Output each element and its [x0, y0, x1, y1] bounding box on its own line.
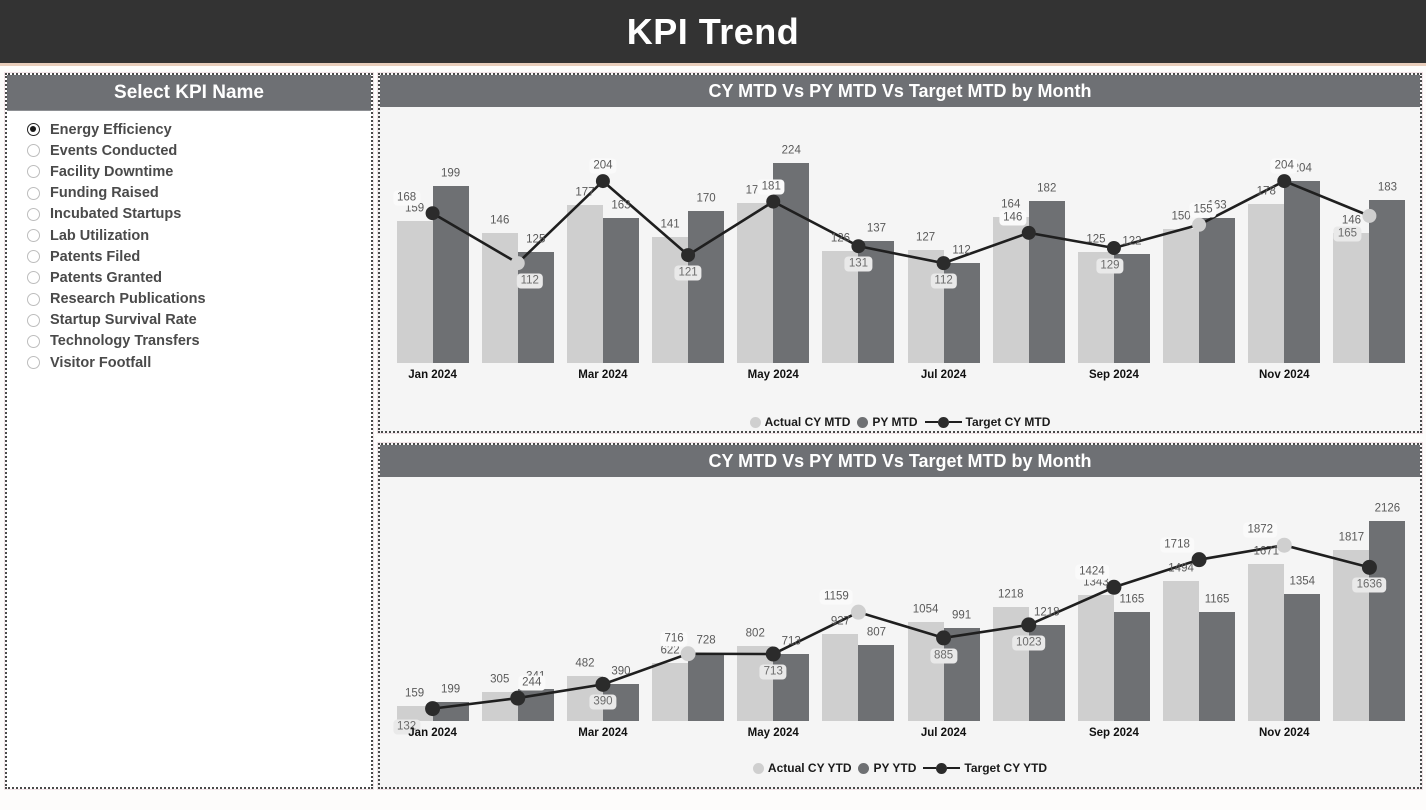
x-axis-tick-label: Nov 2024 — [1259, 727, 1310, 739]
data-label-py: 199 — [437, 166, 464, 181]
dashboard-root: KPI Trend Select KPI Name Energy Efficie… — [0, 0, 1426, 810]
radio-selected-icon[interactable] — [27, 123, 40, 136]
data-label-py: 112 — [948, 244, 974, 259]
x-axis-tick-label: Sep 2024 — [1089, 369, 1139, 381]
target-point[interactable] — [766, 195, 780, 209]
radio-unselected-icon[interactable] — [27, 356, 40, 369]
x-axis-tick-label: Jul 2024 — [921, 369, 966, 381]
target-point[interactable] — [510, 691, 525, 706]
x-axis-tick-label: Jan 2024 — [408, 369, 457, 381]
data-label-py: 390 — [607, 665, 634, 680]
mtd-chart-legend: Actual CY MTDPY MTDTarget CY MTD — [380, 415, 1420, 429]
radio-unselected-icon[interactable] — [27, 335, 40, 348]
data-label-actual: 159 — [401, 687, 428, 702]
kpi-option-facility-downtime[interactable]: Facility Downtime — [27, 161, 371, 182]
data-label-target: 112 — [930, 274, 956, 289]
data-label-target: 885 — [930, 648, 957, 663]
kpi-slicer-header: Select KPI Name — [7, 75, 371, 111]
data-label-py: 1165 — [1116, 592, 1149, 607]
radio-unselected-icon[interactable] — [27, 165, 40, 178]
data-label-target: 1424 — [1075, 565, 1109, 580]
target-point[interactable] — [936, 630, 951, 645]
ytd-chart-title: CY MTD Vs PY MTD Vs Target MTD by Month — [708, 451, 1091, 472]
legend-swatch-icon — [858, 763, 869, 774]
legend-item[interactable]: Actual CY MTD — [750, 415, 851, 429]
data-label-target: 1636 — [1353, 578, 1387, 593]
radio-unselected-icon[interactable] — [27, 187, 40, 200]
target-point[interactable] — [1022, 226, 1036, 240]
legend-label: Actual CY YTD — [768, 761, 852, 775]
kpi-option-patents-granted[interactable]: Patents Granted — [27, 267, 371, 288]
data-label-actual: 305 — [486, 673, 513, 688]
kpi-option-lab-utilization[interactable]: Lab Utilization — [27, 225, 371, 246]
radio-unselected-icon[interactable] — [27, 208, 40, 221]
data-label-target: 146 — [999, 210, 1026, 225]
data-label-target: 716 — [660, 631, 687, 646]
kpi-option-energy-efficiency[interactable]: Energy Efficiency — [27, 119, 371, 140]
data-label-py: 137 — [863, 221, 890, 236]
legend-swatch-icon — [753, 763, 764, 774]
target-point[interactable] — [511, 256, 525, 270]
legend-item[interactable]: Target CY MTD — [925, 415, 1051, 429]
data-label-py: 1165 — [1201, 592, 1234, 607]
legend-item[interactable]: Target CY YTD — [923, 761, 1047, 775]
data-label-target: 165 — [1334, 226, 1361, 241]
mtd-chart-card: CY MTD Vs PY MTD Vs Target MTD by Month … — [378, 73, 1422, 433]
data-label-actual: 1054 — [909, 603, 943, 618]
legend-item[interactable]: Actual CY YTD — [753, 761, 852, 775]
target-point[interactable] — [1362, 560, 1377, 575]
radio-unselected-icon[interactable] — [27, 144, 40, 157]
kpi-option-visitor-footfall[interactable]: Visitor Footfall — [27, 352, 371, 373]
x-axis-tick-label: Jan 2024 — [408, 727, 457, 739]
data-label-py: 199 — [437, 683, 464, 698]
x-axis-tick-label: May 2024 — [748, 369, 799, 381]
kpi-option-patents-filed[interactable]: Patents Filed — [27, 246, 371, 267]
data-label-actual: 802 — [742, 626, 769, 641]
kpi-option-label: Energy Efficiency — [50, 122, 172, 138]
data-label-target: 1872 — [1243, 523, 1277, 538]
legend-label: Target CY MTD — [966, 415, 1051, 429]
data-label-py: 991 — [948, 608, 975, 623]
data-label-actual: 1494 — [1164, 561, 1198, 576]
radio-unselected-icon[interactable] — [27, 314, 40, 327]
data-label-actual: 125 — [1082, 232, 1109, 247]
data-label-py: 224 — [778, 144, 805, 159]
legend-swatch-icon — [750, 417, 761, 428]
kpi-option-research-publications[interactable]: Research Publications — [27, 289, 371, 310]
kpi-option-label: Lab Utilization — [50, 228, 149, 244]
legend-line-icon — [925, 417, 962, 428]
x-axis-tick-label: Sep 2024 — [1089, 727, 1139, 739]
radio-unselected-icon[interactable] — [27, 271, 40, 284]
target-point[interactable] — [681, 248, 695, 262]
kpi-option-label: Patents Granted — [50, 270, 162, 286]
legend-line-icon — [923, 763, 960, 774]
data-label-py: 728 — [692, 633, 719, 648]
data-label-actual: 482 — [571, 656, 598, 671]
x-axis-tick-label: Jul 2024 — [921, 727, 966, 739]
ytd-chart-legend: Actual CY YTDPY YTDTarget CY YTD — [380, 761, 1420, 775]
data-label-actual: 127 — [912, 230, 939, 245]
data-label-target: 121 — [674, 266, 701, 281]
data-label-actual: 146 — [486, 213, 513, 228]
data-label-target: 1159 — [820, 590, 853, 605]
data-label-actual: 178 — [1253, 185, 1280, 200]
target-point[interactable] — [596, 174, 610, 188]
data-label-py: 170 — [692, 192, 719, 207]
data-label-target: 1718 — [1160, 537, 1194, 552]
radio-unselected-icon[interactable] — [27, 229, 40, 242]
data-label-target: 168 — [393, 191, 420, 206]
target-point[interactable] — [937, 256, 951, 270]
data-label-target: 1023 — [1012, 635, 1046, 650]
mtd-chart-title: CY MTD Vs PY MTD Vs Target MTD by Month — [708, 81, 1091, 102]
kpi-option-incubated-startups[interactable]: Incubated Startups — [27, 204, 371, 225]
data-label-py: 125 — [522, 232, 549, 247]
legend-label: PY YTD — [873, 761, 916, 775]
data-label-target: 129 — [1096, 258, 1123, 273]
data-label-actual: 1817 — [1335, 531, 1369, 546]
target-point[interactable] — [1277, 174, 1291, 188]
data-label-target: 244 — [518, 676, 545, 691]
data-label-actual: 177 — [571, 186, 598, 201]
data-label-target: 713 — [760, 665, 787, 680]
data-label-target: 204 — [589, 159, 616, 174]
data-label-py: 182 — [1033, 181, 1060, 196]
kpi-option-label: Events Conducted — [50, 143, 177, 159]
data-label-actual: 1671 — [1249, 545, 1283, 560]
data-label-actual: 141 — [656, 218, 683, 233]
data-label-py: 122 — [1118, 235, 1145, 250]
kpi-option-label: Facility Downtime — [50, 164, 173, 180]
legend-swatch-icon — [857, 417, 868, 428]
dashboard-title-bar: KPI Trend — [0, 0, 1426, 66]
data-label-py: 163 — [607, 198, 634, 213]
x-axis-tick-label: Mar 2024 — [578, 369, 627, 381]
legend-item[interactable]: PY MTD — [857, 415, 917, 429]
legend-label: Target CY YTD — [964, 761, 1047, 775]
ytd-chart-plot-area: 1591991323053412444823903906227287168027… — [380, 477, 1420, 757]
radio-unselected-icon[interactable] — [27, 293, 40, 306]
data-label-target: 204 — [1271, 159, 1298, 174]
mtd-chart-plot-area: 1591991681461251121771632041411701211792… — [380, 107, 1420, 401]
kpi-slicer-title: Select KPI Name — [114, 82, 264, 104]
legend-label: Actual CY MTD — [765, 415, 851, 429]
data-label-actual: 927 — [827, 614, 854, 629]
kpi-option-label: Incubated Startups — [50, 206, 181, 222]
data-label-actual: 126 — [827, 231, 854, 246]
kpi-option-technology-transfers[interactable]: Technology Transfers — [27, 331, 371, 352]
kpi-slicer-option-list[interactable]: Energy EfficiencyEvents ConductedFacilit… — [7, 111, 371, 373]
x-axis-tick-label: Mar 2024 — [578, 727, 627, 739]
data-label-target: 131 — [845, 257, 872, 272]
ytd-chart-header: CY MTD Vs PY MTD Vs Target MTD by Month — [380, 445, 1420, 477]
kpi-option-events-conducted[interactable]: Events Conducted — [27, 140, 371, 161]
target-point[interactable] — [425, 701, 440, 716]
ytd-chart-card: CY MTD Vs PY MTD Vs Target MTD by Month … — [378, 443, 1422, 789]
kpi-slicer-panel[interactable]: Select KPI Name Energy EfficiencyEvents … — [5, 73, 373, 789]
kpi-option-label: Startup Survival Rate — [50, 312, 197, 328]
mtd-chart-header: CY MTD Vs PY MTD Vs Target MTD by Month — [380, 75, 1420, 107]
kpi-option-label: Research Publications — [50, 291, 206, 307]
target-line-series — [380, 107, 1420, 401]
page-title: KPI Trend — [627, 11, 800, 53]
kpi-option-funding-raised[interactable]: Funding Raised — [27, 183, 371, 204]
kpi-option-label: Patents Filed — [50, 249, 140, 265]
kpi-option-label: Funding Raised — [50, 185, 159, 201]
data-label-py: 1218 — [1030, 605, 1064, 620]
radio-unselected-icon[interactable] — [27, 250, 40, 263]
x-axis-tick-label: May 2024 — [748, 727, 799, 739]
data-label-target: 181 — [758, 179, 785, 194]
data-label-actual: 1218 — [994, 587, 1028, 602]
data-label-py: 2126 — [1371, 502, 1405, 517]
kpi-option-label: Technology Transfers — [50, 333, 200, 349]
data-label-py: 1354 — [1285, 574, 1319, 589]
data-label-target: 155 — [1189, 202, 1216, 217]
kpi-option-label: Visitor Footfall — [50, 355, 151, 371]
legend-item[interactable]: PY YTD — [858, 761, 916, 775]
target-line-series — [380, 477, 1420, 757]
data-label-py: 807 — [863, 626, 890, 641]
data-label-py: 183 — [1374, 180, 1401, 195]
legend-label: PY MTD — [872, 415, 917, 429]
kpi-option-startup-survival-rate[interactable]: Startup Survival Rate — [27, 310, 371, 331]
data-label-target: 112 — [517, 274, 543, 289]
x-axis-tick-label: Nov 2024 — [1259, 369, 1310, 381]
data-label-py: 713 — [778, 635, 805, 650]
data-label-target: 390 — [589, 695, 616, 710]
